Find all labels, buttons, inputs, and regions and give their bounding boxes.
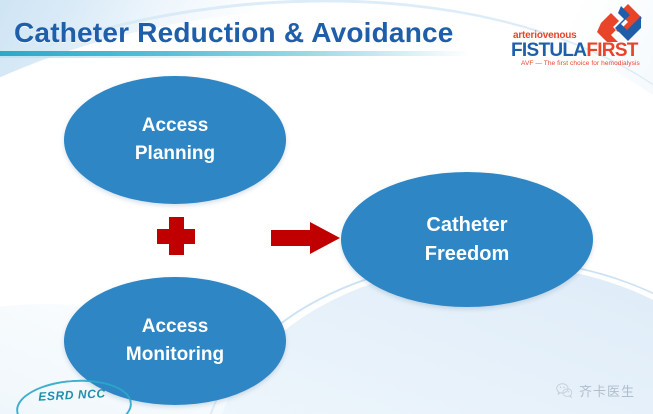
arrow-right-icon — [271, 222, 341, 254]
node-label-line1: Access — [142, 112, 209, 140]
slide-canvas: Catheter Reduction & Avoidance arteriove… — [0, 0, 653, 414]
diagram-node-catheter-freedom: Catheter Freedom — [341, 172, 593, 307]
node-label-line1: Catheter — [426, 211, 507, 240]
watermark-text: 齐卡医生 — [579, 381, 635, 400]
node-label-line2: Monitoring — [126, 341, 224, 369]
title-divider-secondary — [0, 56, 300, 58]
logo-wordmark: FISTULAFIRST — [511, 40, 638, 62]
plus-icon — [157, 217, 195, 255]
fistula-first-mark-icon — [597, 4, 643, 44]
arrow-head — [310, 222, 340, 254]
arrow-shaft — [271, 230, 313, 246]
node-label-line2: Planning — [135, 140, 215, 168]
plus-icon-bar-vertical — [169, 217, 184, 255]
watermark: 齐卡医生 — [556, 381, 635, 400]
diagram-node-access-planning: Access Planning — [64, 76, 286, 204]
node-label-line1: Access — [142, 313, 209, 341]
page-title: Catheter Reduction & Avoidance — [14, 17, 454, 49]
esrd-ncc-logo: ESRD NCC — [16, 380, 128, 414]
logo-first-text: FIRST — [586, 40, 637, 61]
wechat-icon — [556, 382, 573, 399]
logo-tagline: AVF — The first choice for hemodialysis — [521, 60, 640, 67]
fistula-first-logo: arteriovenous FISTULAFIRST AVF — The fir… — [503, 4, 645, 70]
logo-fistula-text: FISTULA — [511, 40, 586, 61]
node-label-line2: Freedom — [425, 240, 509, 269]
